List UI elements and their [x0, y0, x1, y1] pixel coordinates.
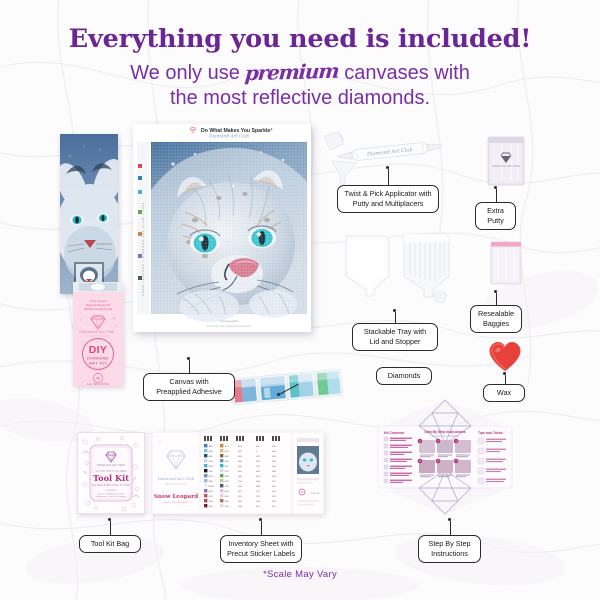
callout-canvas[interactable]: Canvas with Preapplied Adhesive: [143, 373, 235, 401]
svg-text:0435: 0435: [272, 451, 276, 453]
diy-box-brand: Diamond Art Club: [81, 330, 116, 334]
leader-line-stackable-tray: [395, 312, 396, 323]
svg-text:Multiplacers, Tray, Wax, Baggi: Multiplacers, Tray, Wax, Baggies: [96, 495, 126, 498]
callout-step-by-step[interactable]: Step By Step Instructions: [418, 535, 481, 563]
svg-text:3024: 3024: [256, 456, 260, 458]
svg-text:0898: 0898: [272, 471, 276, 473]
diy-kit-box: Snow Leopard Diamond Painting Kit Offici…: [73, 282, 123, 386]
premium-script-word: premium: [244, 60, 339, 86]
callout-stackable-tray[interactable]: Stackable Tray with Lid and Stopper: [352, 323, 438, 351]
svg-text:0535: 0535: [272, 486, 276, 488]
svg-text:0: 0: [256, 451, 257, 453]
leader-line-resealable-baggies: [496, 293, 497, 305]
svg-text:0977: 0977: [225, 446, 229, 448]
diy-box-all-inclusive: ALL INCLUSIVE: [87, 383, 109, 386]
leader-line-step-by-step: [450, 521, 451, 535]
leader-line-canvas: [189, 360, 190, 373]
svg-text:0938: 0938: [272, 476, 276, 478]
svg-text:0597: 0597: [225, 466, 229, 468]
callout-wax[interactable]: Wax: [483, 384, 525, 402]
inventory-sheet: Diamond Art Club DIAMOND INVENTORY Snow …: [152, 432, 324, 514]
instructions-tips-heading: Tips and Tricks: [478, 431, 503, 435]
svg-text:To Diamond Painting: To Diamond Painting: [431, 434, 459, 438]
svg-text:0169: 0169: [256, 446, 260, 448]
svg-text:0535: 0535: [238, 486, 242, 488]
reference-poster: [60, 134, 118, 294]
svg-text:0869: 0869: [225, 456, 229, 458]
svg-text:0712: 0712: [256, 491, 260, 493]
svg-text:0209: 0209: [209, 491, 213, 493]
step-by-step-instructions-sheet: Kit Contents: [372, 398, 518, 516]
svg-text:CONTENTS: CONTENTS: [105, 490, 117, 492]
svg-text:ROUND: ROUND: [92, 367, 105, 371]
callout-inventory-sheet[interactable]: Inventory Sheet with Precut Sticker Labe…: [220, 535, 302, 563]
page-title: Everything you need is included!: [0, 26, 600, 53]
svg-text:0762: 0762: [225, 506, 229, 508]
svg-text:0646: 0646: [238, 466, 242, 468]
svg-text:0317: 0317: [238, 491, 242, 493]
svg-text:0988: 0988: [225, 476, 229, 478]
leader-line-applicator: [388, 169, 389, 185]
svg-text:0433: 0433: [272, 461, 276, 463]
svg-text:SNOW LEOPARD • DIAMOND ART CLU: SNOW LEOPARD • DIAMOND ART CLUB • 2024: [142, 202, 145, 296]
subtitle-line-1: We only use premium canvases with: [0, 61, 600, 86]
svg-text:0414: 0414: [238, 501, 242, 503]
svg-text:3840: 3840: [209, 451, 213, 453]
callout-extra-putty[interactable]: Extra Putty: [475, 202, 516, 230]
svg-text:0813: 0813: [209, 476, 213, 478]
svg-text:0647: 0647: [238, 461, 242, 463]
svg-text:0523: 0523: [225, 481, 229, 483]
svg-text:0840: 0840: [225, 501, 229, 503]
diamonds-packet-strip: [228, 368, 346, 415]
instructions-kit-contents-heading: Kit Contents: [384, 431, 404, 435]
svg-text:DIY: DIY: [89, 344, 107, 356]
subtitle-line-2: the most reflective diamonds.: [0, 87, 600, 111]
svg-text:0642: 0642: [256, 476, 260, 478]
diamond-painting-canvas: Do What Makes You Sparkle® Diamond Art C…: [133, 124, 311, 332]
tray-stopper: [430, 288, 450, 311]
svg-text:PRECUT STICKER LABELS: PRECUT STICKER LABELS: [163, 501, 189, 504]
svg-text:0321: 0321: [209, 496, 213, 498]
svg-text:0598: 0598: [209, 466, 213, 468]
header-block: Everything you need is included! We only…: [0, 0, 600, 111]
callout-applicator[interactable]: Twist & Pick Applicator with Putty and M…: [337, 185, 439, 213]
svg-text:0976: 0976: [225, 451, 229, 453]
svg-text:0644: 0644: [256, 481, 260, 483]
svg-text:0415: 0415: [238, 446, 242, 448]
svg-text:0775: 0775: [209, 461, 213, 463]
callout-tool-kit-bag[interactable]: Tool Kit Bag: [79, 535, 141, 553]
svg-text:Twist & Pick Applicator, Putty: Twist & Pick Applicator, Putty,: [97, 492, 125, 495]
inventory-brand: Diamond Art Club: [157, 476, 195, 481]
svg-text:0926: 0926: [272, 501, 276, 503]
svg-text:0437: 0437: [256, 506, 260, 508]
callout-diamonds[interactable]: Diamonds: [376, 367, 432, 385]
svg-text:0739: 0739: [256, 496, 260, 498]
stackable-tray-lid: [342, 232, 394, 305]
svg-text:0310: 0310: [272, 491, 276, 493]
svg-text:INCLUDES EVERYTHING TO START: INCLUDES EVERYTHING TO START: [92, 484, 131, 487]
svg-text:0518: 0518: [225, 461, 229, 463]
canvas-brand-tagline: Do What Makes You Sparkle®: [201, 127, 273, 134]
svg-text:0645: 0645: [238, 471, 242, 473]
svg-text:DIAMOND INVENTORY: DIAMOND INVENTORY: [165, 483, 188, 486]
svg-text:0822: 0822: [256, 486, 260, 488]
svg-text:3023: 3023: [256, 461, 260, 463]
svg-text:0304: 0304: [209, 501, 213, 503]
svg-text:3022: 3022: [256, 466, 260, 468]
canvas-artwork-caption: Snow Leopard: [220, 319, 238, 323]
svg-text:B5200: B5200: [209, 486, 214, 488]
svg-text:0902: 0902: [209, 506, 213, 508]
scale-note: *Scale May Vary: [0, 569, 600, 580]
leader-line-wax: [505, 375, 506, 384]
leader-line-inventory-sheet: [261, 521, 262, 535]
tool-kit-bag: Diamond Art Club ALL THE TOOLS YOU NEED …: [77, 432, 145, 514]
svg-text:0924: 0924: [272, 496, 276, 498]
svg-text:0820: 0820: [209, 456, 213, 458]
svg-text:0963: 0963: [225, 496, 229, 498]
svg-text:3799: 3799: [238, 481, 242, 483]
svg-text:Diamond Painting Kit: Diamond Painting Kit: [86, 303, 111, 307]
svg-text:0640: 0640: [256, 471, 260, 473]
svg-text:0318: 0318: [238, 496, 242, 498]
extra-putty-packet: Diamond Art Club: [485, 134, 527, 193]
subtitle-text-after: canvases with: [339, 62, 470, 84]
svg-text:0844: 0844: [238, 476, 242, 478]
svg-text:SCAN ME: SCAN ME: [310, 492, 320, 495]
canvas-brand-name: Diamond Art Club: [208, 135, 249, 140]
svg-text:0554: 0554: [225, 491, 229, 493]
svg-text:0168: 0168: [238, 506, 242, 508]
svg-text:0738: 0738: [256, 501, 260, 503]
svg-text:0413: 0413: [225, 486, 229, 488]
svg-text:0747: 0747: [225, 471, 229, 473]
svg-text:3841: 3841: [209, 446, 213, 448]
svg-text:ART KIT: ART KIT: [89, 361, 108, 366]
svg-text:Diamond Art Club • Official Li: Diamond Art Club • Official Licensed Art…: [206, 325, 252, 328]
resealable-baggie: [487, 238, 525, 291]
tool-kit-brand: Diamond Art Club: [96, 463, 125, 467]
svg-text:Snow Leopard: Snow Leopard: [90, 299, 107, 303]
svg-text:Official Licensed Artwork: Official Licensed Artwork: [84, 307, 113, 311]
svg-text:0436: 0436: [272, 446, 276, 448]
subtitle-text-before: We only use: [130, 62, 245, 84]
svg-text:3072: 3072: [238, 451, 242, 453]
svg-text:0434: 0434: [272, 456, 276, 458]
inventory-artwork-title: Snow Leopard: [154, 494, 198, 500]
callout-resealable-baggies[interactable]: Resealable Baggies: [470, 305, 522, 333]
instructions-heading: Step By Step Instructions: [424, 430, 465, 434]
leader-line-tool-kit-bag: [110, 521, 111, 535]
leader-line-extra-putty: [496, 189, 497, 202]
svg-text:0648: 0648: [238, 456, 242, 458]
svg-text:Diamond Art Club: Diamond Art Club: [491, 164, 520, 168]
svg-text:0927: 0927: [272, 506, 276, 508]
tool-kit-title: Tool Kit: [93, 473, 129, 483]
svg-text:0801: 0801: [272, 466, 276, 468]
svg-text:0310: 0310: [209, 471, 213, 473]
svg-text:3371: 3371: [272, 481, 276, 483]
svg-text:0800: 0800: [209, 481, 213, 483]
